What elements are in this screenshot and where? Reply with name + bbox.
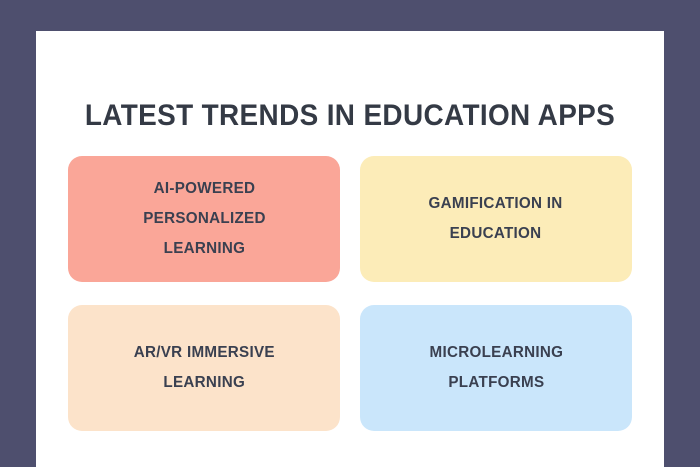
trend-card-ar-vr-immersive-learning[interactable]: AR/VR IMMERSIVE LEARNING <box>68 305 340 431</box>
trend-card-label: AR/VR IMMERSIVE LEARNING <box>133 338 274 398</box>
trend-card-ai-powered-personalized-learning[interactable]: AI-POWERED PERSONALIZED LEARNING <box>68 156 340 282</box>
trend-card-gamification-in-education[interactable]: GAMIFICATION IN EDUCATION <box>360 156 632 282</box>
trend-card-label: GAMIFICATION IN EDUCATION <box>429 189 563 249</box>
poster-canvas: LATEST TRENDS IN EDUCATION APPS AI-POWER… <box>0 0 700 467</box>
trend-card-grid: AI-POWERED PERSONALIZED LEARNING GAMIFIC… <box>68 156 632 431</box>
page-title: LATEST TRENDS IN EDUCATION APPS <box>58 99 642 133</box>
trend-card-label: AI-POWERED PERSONALIZED LEARNING <box>143 174 266 264</box>
trend-card-label: MICROLEARNING PLATFORMS <box>429 338 563 398</box>
content-panel: LATEST TRENDS IN EDUCATION APPS AI-POWER… <box>36 31 664 467</box>
trend-card-microlearning-platforms[interactable]: MICROLEARNING PLATFORMS <box>360 305 632 431</box>
